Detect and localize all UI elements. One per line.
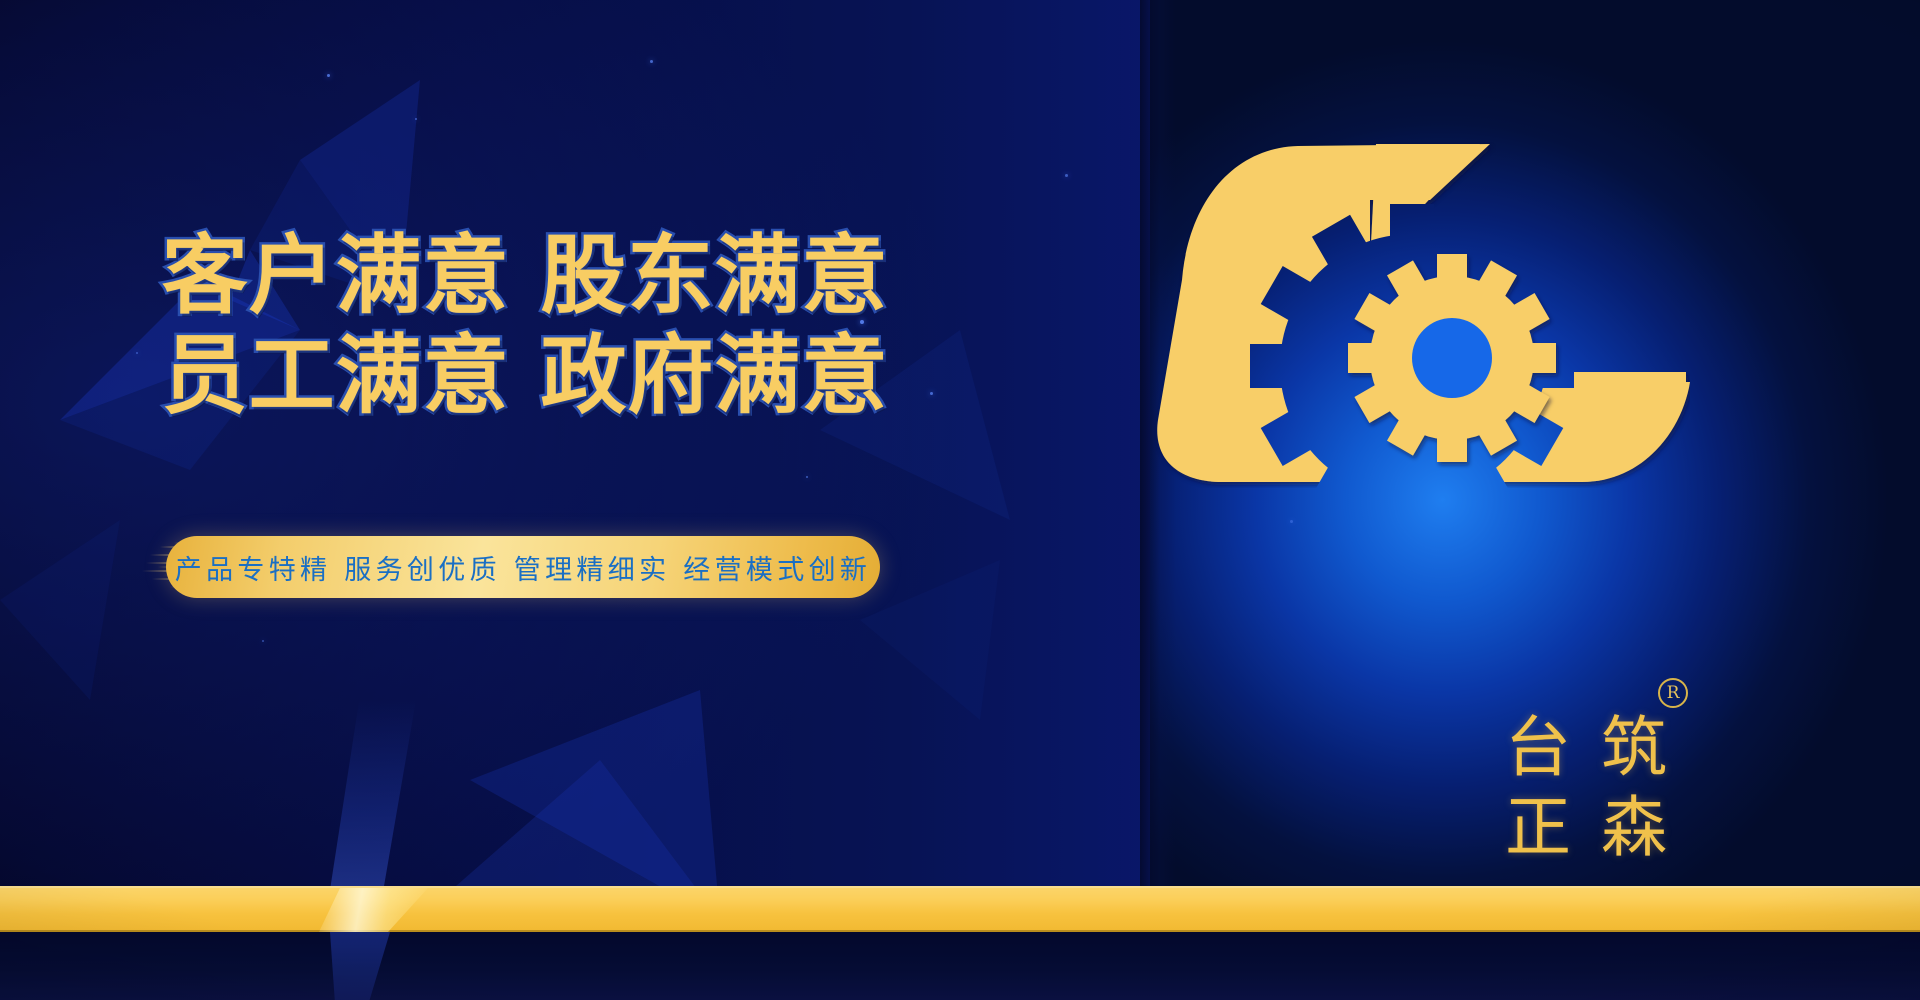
gold-bar-highlight — [318, 888, 428, 934]
slogan-pill: 产品专特精 服务创优质 管理精细实 经营模式创新 — [166, 536, 880, 598]
slogan-text: 产品专特精 服务创优质 管理精细实 经营模式创新 — [175, 548, 871, 587]
headline-line-1: 客户满意 股东满意 — [0, 232, 1050, 320]
gear-center-hole — [1412, 318, 1492, 398]
wordmark: 台 筑 正 森 R — [1490, 690, 1690, 870]
wordmark-char-3: 正 — [1490, 788, 1586, 868]
bottom-dark-strip — [0, 932, 1920, 1000]
headline-block: 客户满意 股东满意 员工满意 政府满意 — [0, 232, 1050, 419]
logo-svg — [1130, 88, 1690, 488]
wordmark-characters: 台 筑 正 森 — [1490, 708, 1682, 868]
wordmark-char-2: 筑 — [1586, 708, 1682, 788]
banner-canvas: 客户满意 股东满意 员工满意 政府满意 产品专特精 服务创优质 管理精细实 经营… — [0, 0, 1920, 1000]
gear-swoosh-logo — [1130, 88, 1690, 488]
slogan-banner: 产品专特精 服务创优质 管理精细实 经营模式创新 — [140, 536, 880, 598]
low-poly-facets — [0, 0, 1160, 1000]
bottom-gold-bar — [0, 886, 1920, 932]
wordmark-char-1: 台 — [1490, 708, 1586, 788]
headline-line-2: 员工满意 政府满意 — [0, 332, 1050, 420]
wordmark-char-4: 森 — [1586, 788, 1682, 868]
registered-trademark-icon: R — [1658, 678, 1688, 708]
